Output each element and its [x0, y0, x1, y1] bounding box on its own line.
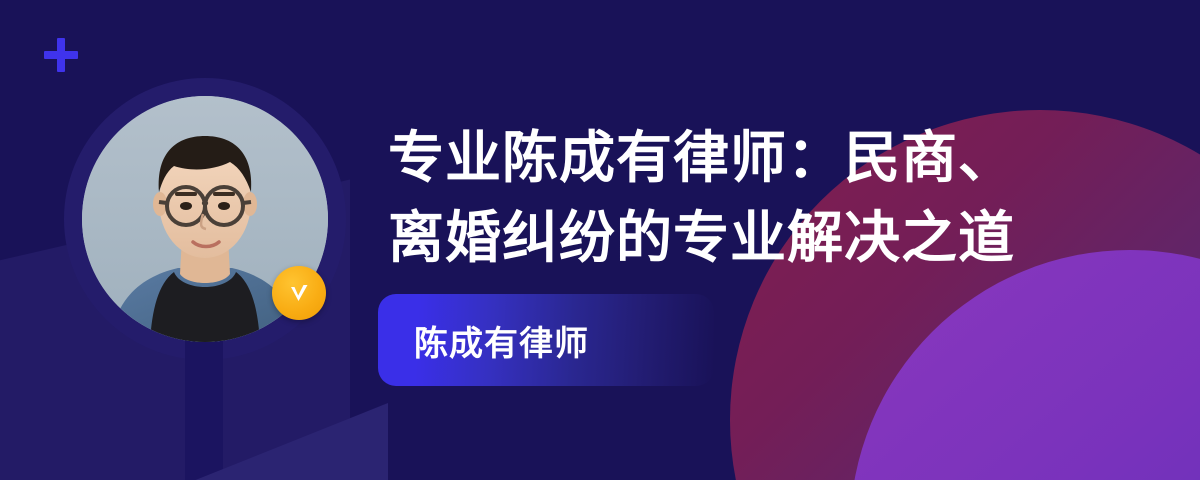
promo-banner: 专业陈成有律师：民商、 离婚纠纷的专业解决之道 陈成有律师 — [0, 0, 1200, 480]
lawyer-name-button[interactable]: 陈成有律师 — [378, 294, 714, 386]
avatar — [82, 96, 328, 342]
decor-triangle-wedge — [188, 403, 388, 480]
verified-check-icon — [272, 266, 326, 320]
page-title: 专业陈成有律师：民商、 离婚纠纷的专业解决之道 — [388, 118, 1148, 277]
headline-line-1: 专业陈成有律师：民商、 — [388, 118, 1148, 198]
headline-block: 专业陈成有律师：民商、 离婚纠纷的专业解决之道 — [388, 118, 1148, 277]
headline-line-2: 离婚纠纷的专业解决之道 — [388, 198, 1148, 278]
plus-icon — [44, 38, 78, 72]
